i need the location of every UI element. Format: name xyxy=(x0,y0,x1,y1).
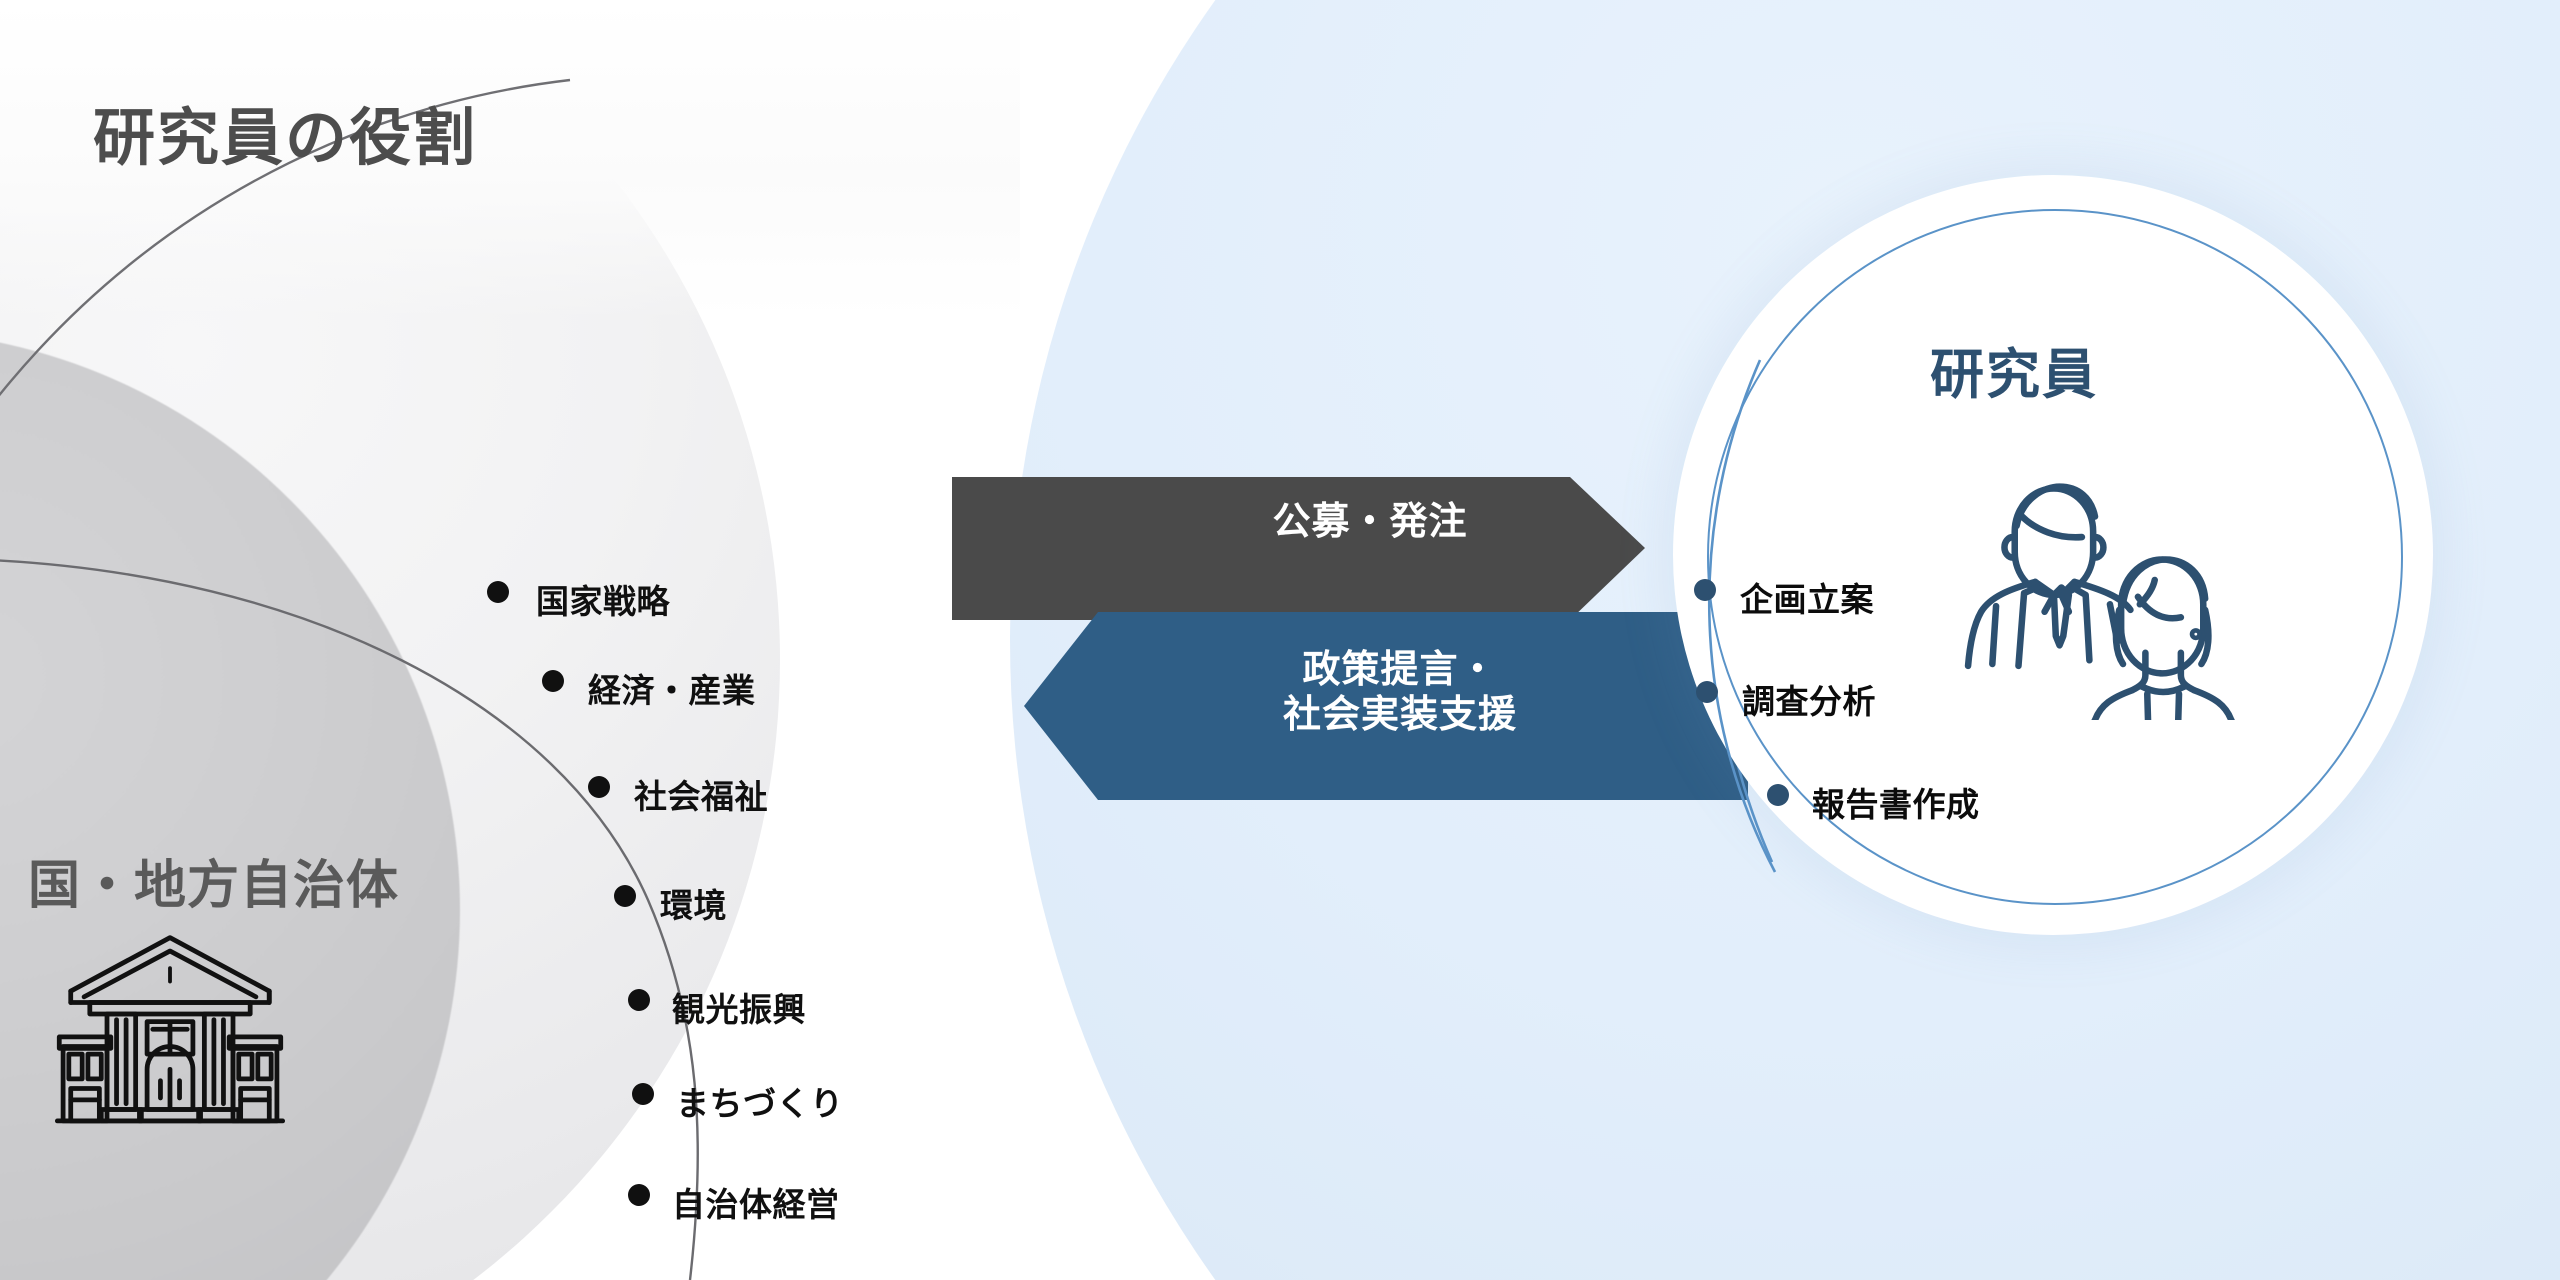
left-bullet-dot-7 xyxy=(628,1184,650,1206)
government-building-icon xyxy=(55,930,285,1140)
left-bullet-dot-3 xyxy=(588,776,610,798)
left-bullet-dot-1 xyxy=(487,581,509,603)
right-item-label-3: 報告書作成 xyxy=(1812,778,1980,826)
arrow-outbound-label: 公募・発注 xyxy=(1160,500,1580,545)
left-item-label-4: 環境 xyxy=(660,879,727,927)
slide-canvas: 研究員の役割 国・地方自治体 xyxy=(0,0,2560,1280)
left-bullet-dot-4 xyxy=(614,885,636,907)
left-item-label-3: 社会福祉 xyxy=(634,770,768,818)
arrow-inbound-label-line1: 政策提言・ xyxy=(1190,648,1610,693)
left-item-label-2: 経済・産業 xyxy=(588,664,756,712)
left-arc-line xyxy=(0,80,570,902)
page-title: 研究員の役割 xyxy=(93,108,477,170)
left-item-label-7: 自治体経営 xyxy=(672,1178,840,1226)
left-bullet-dot-6 xyxy=(632,1083,654,1105)
arrow-inbound-label-line2: 社会実装支援 xyxy=(1190,693,1610,738)
two-people-icon xyxy=(1955,440,2235,720)
left-bullet-dot-2 xyxy=(542,670,564,692)
right-item-label-2: 調査分析 xyxy=(1742,675,1876,723)
arrow-outbound-shape xyxy=(952,477,1645,620)
left-group-label: 国・地方自治体 xyxy=(28,843,399,918)
left-bullet-dot-5 xyxy=(628,989,650,1011)
left-item-label-5: 観光振興 xyxy=(672,983,806,1031)
right-item-label-1: 企画立案 xyxy=(1740,573,1874,621)
left-item-label-1: 国家戦略 xyxy=(536,575,670,623)
right-group-label: 研究員 xyxy=(1930,330,2098,409)
left-item-label-6: まちづくり xyxy=(676,1077,844,1125)
arrow-inbound-label: 政策提言・ 社会実装支援 xyxy=(1190,648,1610,738)
